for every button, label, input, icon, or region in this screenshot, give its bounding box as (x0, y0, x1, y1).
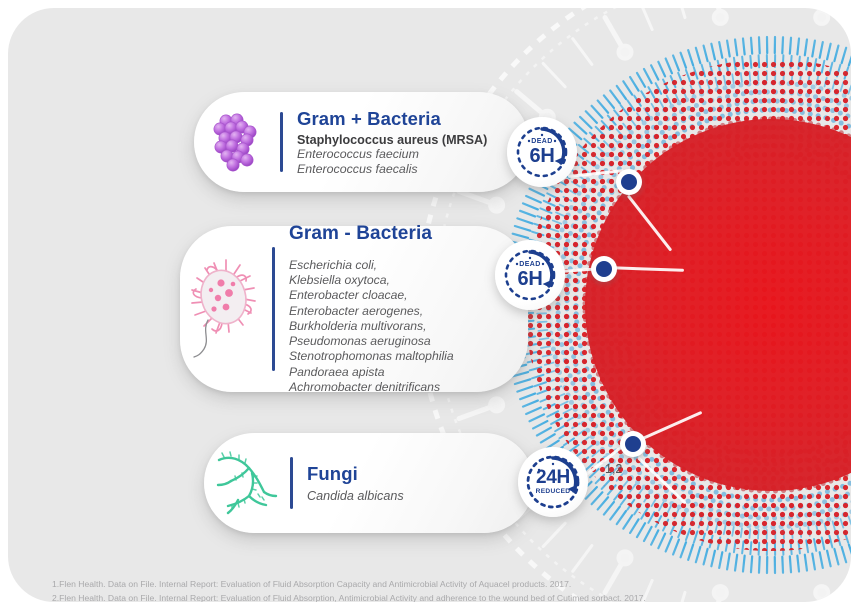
badge-dead-6h-gram-positive[interactable]: DEAD 6H (507, 117, 577, 187)
connector-line-1b (627, 195, 672, 252)
badge-top-label: DEAD (530, 138, 555, 145)
badge-reduced-24h-fungi[interactable]: 24H REDUCED (518, 447, 588, 517)
badge-dead-6h-gram-negative[interactable]: DEAD 6H (495, 240, 565, 310)
organism-name: Staphylococcus aureus (MRSA) (297, 133, 487, 148)
organism-name: Pseudomonas aeruginosa (289, 334, 454, 349)
footnotes: 1.Flen Health. Data on File. Internal Re… (52, 577, 646, 602)
connector-node-fungi[interactable] (620, 431, 646, 457)
badge-bottom-label: REDUCED (536, 489, 571, 496)
badge-value: 6H (518, 269, 543, 289)
organism-name: Escherichia coli, (289, 258, 454, 273)
organism-name: Stenotrophomonas maltophilia (289, 349, 454, 364)
connector-node-gram-pos[interactable] (616, 169, 642, 195)
badge-value: 6H (530, 146, 555, 166)
connector-node-gram-neg[interactable] (591, 256, 617, 282)
card-title: Gram + Bacteria (297, 108, 487, 130)
card-text-gram-positive: Gram + Bacteria Staphylococcus aureus (M… (283, 108, 487, 177)
badge-value: 24H (536, 468, 571, 487)
organism-name: Enterobacter cloacae, (289, 288, 454, 303)
connector-line-3b (635, 411, 702, 443)
organism-name: Pandoraea apista (289, 365, 454, 380)
card-title: Fungi (307, 463, 404, 485)
rod-bacterium-icon (180, 257, 272, 361)
organism-name: Achromobacter denitrificans (289, 380, 454, 395)
card-fungi[interactable]: Fungi Candida albicans (204, 433, 534, 533)
organism-name: Klebsiella oxytoca, (289, 273, 454, 288)
badge-top-label: DEAD (518, 261, 543, 268)
card-gram-negative[interactable]: Gram - Bacteria Escherichia coli, Klebsi… (180, 226, 528, 392)
fungal-hyphae-icon (204, 448, 290, 518)
reference-marker: 1,2 (605, 462, 622, 476)
card-title: Gram - Bacteria (289, 223, 454, 245)
organism-name: Candida albicans (307, 489, 404, 504)
footnote-item: 2.Flen Health. Data on File. Internal Re… (52, 591, 646, 602)
footnote-item: 1.Flen Health. Data on File. Internal Re… (52, 577, 646, 591)
organism-name: Burkholderia multivorans, (289, 319, 454, 334)
connector-line-3c (637, 456, 687, 504)
card-gram-positive[interactable]: Gram + Bacteria Staphylococcus aureus (M… (194, 92, 529, 192)
organism-name: Enterococcus faecalis (297, 162, 487, 177)
organism-name: Enterobacter aerogenes, (289, 304, 454, 319)
organism-name: Enterococcus faecium (297, 147, 487, 162)
card-text-fungi: Fungi Candida albicans (293, 463, 404, 504)
card-text-gram-negative: Gram - Bacteria Escherichia coli, Klebsi… (275, 223, 454, 396)
infographic-panel: 1,2 (8, 8, 851, 602)
staphylococcus-cluster-icon (194, 111, 280, 173)
